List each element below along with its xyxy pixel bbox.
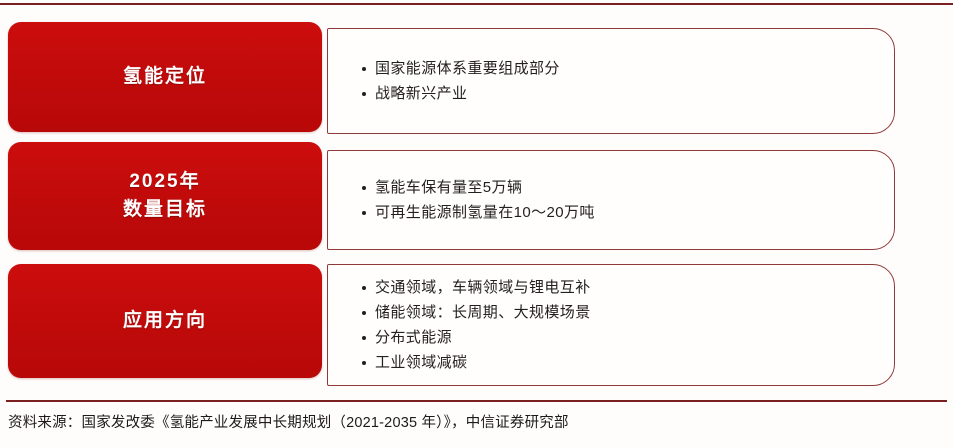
bullet-item: 工业领域减碳 [362,350,894,375]
row-label-application-directions[interactable]: 应用方向 [8,264,322,378]
hydrogen-plan-diagram: 氢能定位 国家能源体系重要组成部分 战略新兴产业 2025年 数量目标 氢能车保… [0,12,953,392]
diagram-row: 应用方向 交通领域，车辆领域与锂电互补 储能领域：长周期、大规模场景 分布式能源… [0,262,953,384]
row-label-line: 2025年 [129,168,200,197]
footer-divider-rule [6,400,947,402]
diagram-row: 氢能定位 国家能源体系重要组成部分 战略新兴产业 [0,20,953,142]
source-note: 资料来源：国家发改委《氢能产业发展中长期规划（2021-2035 年）》，中信证… [8,412,938,434]
row-label-line: 数量目标 [123,196,207,225]
row-label-line: 氢能定位 [123,63,207,92]
row-content-hydrogen-positioning[interactable]: 国家能源体系重要组成部分 战略新兴产业 [327,28,895,134]
top-divider-rule [0,3,953,5]
row-content-application-directions[interactable]: 交通领域，车辆领域与锂电互补 储能领域：长周期、大规模场景 分布式能源 工业领域… [327,264,895,386]
row-label-line: 应用方向 [123,307,207,336]
bullet-item: 可再生能源制氢量在10～20万吨 [362,200,894,225]
row-label-2025-targets[interactable]: 2025年 数量目标 [8,142,322,250]
bullet-item: 交通领域，车辆领域与锂电互补 [362,275,894,300]
row-label-hydrogen-positioning[interactable]: 氢能定位 [8,22,322,132]
bullet-item: 储能领域：长周期、大规模场景 [362,300,894,325]
diagram-row: 2025年 数量目标 氢能车保有量至5万辆 可再生能源制氢量在10～20万吨 [0,140,953,256]
figure-page: 氢能定位 国家能源体系重要组成部分 战略新兴产业 2025年 数量目标 氢能车保… [0,0,953,448]
bullet-item: 国家能源体系重要组成部分 [362,56,894,81]
bullet-item: 战略新兴产业 [362,81,894,106]
bullet-item: 氢能车保有量至5万辆 [362,175,894,200]
bullet-item: 分布式能源 [362,325,894,350]
row-content-2025-targets[interactable]: 氢能车保有量至5万辆 可再生能源制氢量在10～20万吨 [327,150,895,250]
